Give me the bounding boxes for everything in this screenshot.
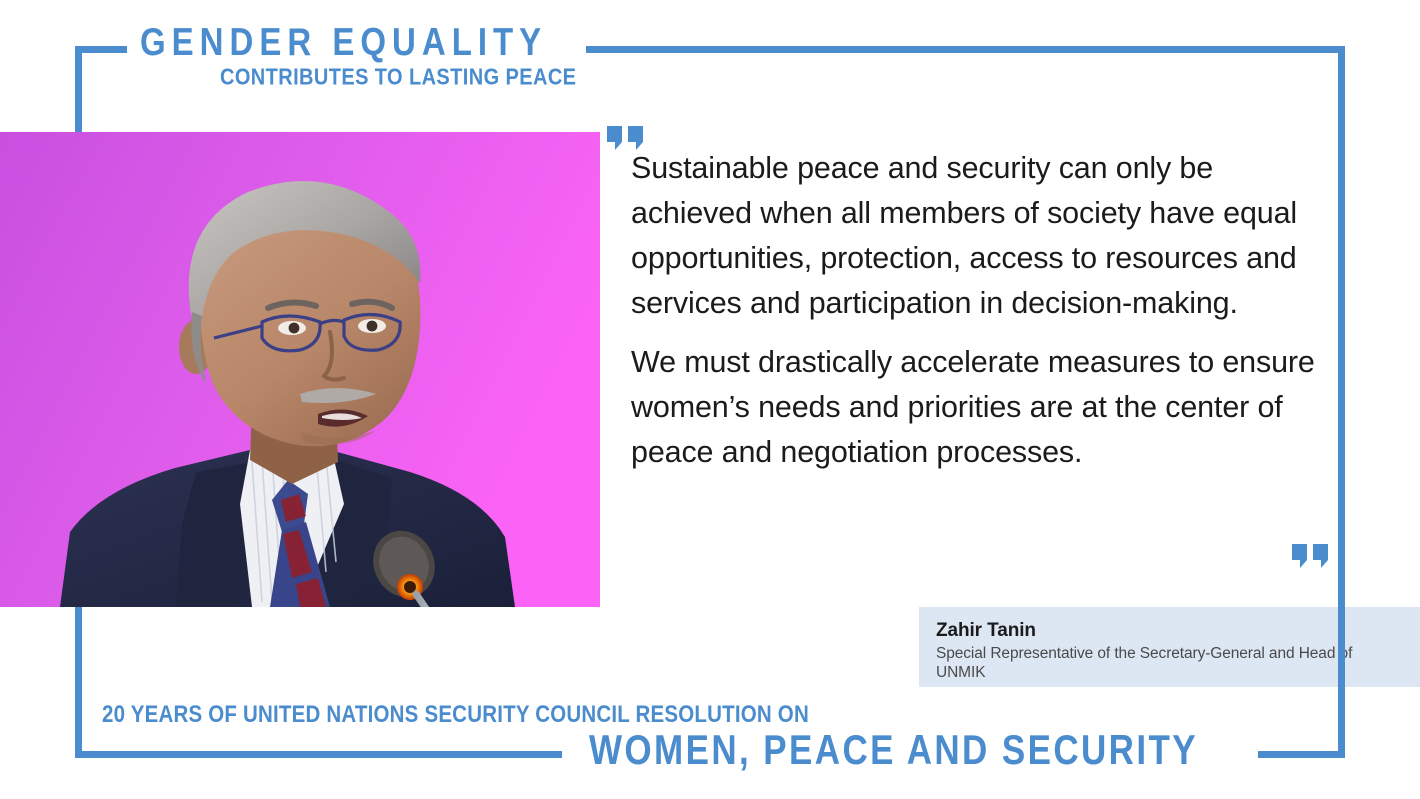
frame-border-bottom-left xyxy=(75,751,562,758)
speaker-name: Zahir Tanin xyxy=(936,619,1420,643)
poster-canvas: GENDER EQUALITY CONTRIBUTES TO LASTING P… xyxy=(0,0,1420,799)
quote-paragraph-2: We must drastically accelerate measures … xyxy=(631,340,1331,475)
speaker-role: Special Representative of the Secretary-… xyxy=(936,644,1356,682)
footer-headline-line1: 20 YEARS OF UNITED NATIONS SECURITY COUN… xyxy=(102,703,809,727)
header-block: GENDER EQUALITY CONTRIBUTES TO LASTING P… xyxy=(140,22,760,55)
speaker-photo-illustration xyxy=(0,132,600,607)
page-title: GENDER EQUALITY xyxy=(140,22,760,61)
page-subtitle: CONTRIBUTES TO LASTING PEACE xyxy=(220,66,576,89)
frame-border-top-left xyxy=(75,46,127,53)
speaker-photo xyxy=(0,132,600,607)
footer-headline-line2: WOMEN, PEACE AND SECURITY xyxy=(589,729,1198,771)
frame-border-bottom-right xyxy=(1258,751,1345,758)
frame-border-right-overlay xyxy=(1338,607,1345,687)
quote-close-icon xyxy=(1291,543,1331,569)
quote-text-block: Sustainable peace and security can only … xyxy=(631,146,1331,475)
quote-paragraph-1: Sustainable peace and security can only … xyxy=(631,146,1331,326)
